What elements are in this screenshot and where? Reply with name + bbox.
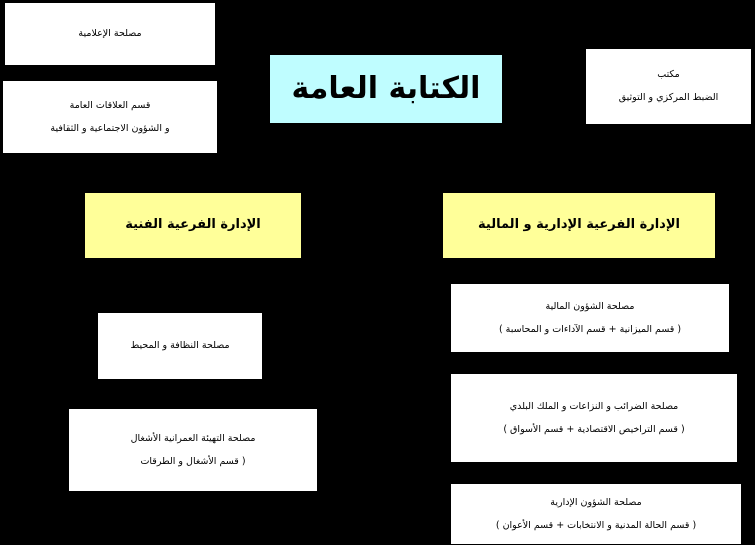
service-administrative-affairs-name: مصلحة الشؤون الإدارية: [550, 496, 641, 510]
node-central-registry-office[interactable]: مكتب الضبط المركزي و التوثيق: [585, 48, 752, 125]
node-service-administrative-affairs[interactable]: مصلحة الشؤون الإدارية ( قسم الحالة المدن…: [450, 483, 742, 545]
node-general-secretariat[interactable]: الكتابة العامة: [270, 55, 502, 123]
central-registry-office-label-line1: مكتب: [657, 68, 680, 82]
node-media-service[interactable]: مصلحة الإعلامية: [4, 2, 216, 66]
node-public-relations[interactable]: قسم العلاقات العامة و الشؤون الاجتماعية …: [2, 80, 218, 154]
subdirectorate-technical-label: الإدارة الفرعية الفنية: [125, 216, 261, 235]
node-service-cleanliness-environment[interactable]: مصلحة النظافة و المحيط: [97, 312, 263, 380]
service-urban-planning-works-name: مصلحة التهيئة العمرانية الأشغال: [131, 432, 256, 446]
central-registry-office-label-line2: الضبط المركزي و التوثيق: [619, 91, 719, 105]
service-financial-affairs-detail: ( قسم الميزانية + قسم الآداءات و المحاسب…: [499, 323, 681, 337]
node-service-taxes-disputes-municipal-property[interactable]: مصلحة الضرائب و النزاعات و الملك البلدي …: [450, 373, 738, 463]
node-subdirectorate-technical[interactable]: الإدارة الفرعية الفنية: [85, 193, 301, 258]
service-administrative-affairs-detail: ( قسم الحالة المدنية و الانتخابات + قسم …: [496, 519, 696, 533]
service-taxes-disputes-municipal-property-name: مصلحة الضرائب و النزاعات و الملك البلدي: [510, 400, 679, 414]
node-service-urban-planning-works[interactable]: مصلحة التهيئة العمرانية الأشغال ( قسم ال…: [68, 408, 318, 492]
organization-chart: الكتابة العامة مصلحة الإعلامية قسم العلا…: [0, 0, 755, 545]
node-subdirectorate-administrative-financial[interactable]: الإدارة الفرعية الإدارية و المالية: [443, 193, 715, 258]
service-cleanliness-environment-name: مصلحة النظافة و المحيط: [130, 339, 229, 353]
service-urban-planning-works-detail: ( قسم الأشغال و الطرقات: [140, 455, 245, 469]
media-service-label: مصلحة الإعلامية: [78, 27, 141, 41]
subdirectorate-administrative-financial-label: الإدارة الفرعية الإدارية و المالية: [478, 216, 680, 235]
general-secretariat-label: الكتابة العامة: [292, 67, 481, 111]
node-service-financial-affairs[interactable]: مصلحة الشؤون المالية ( قسم الميزانية + ق…: [450, 283, 730, 353]
public-relations-label-line2: و الشؤون الاجتماعية و الثقافية: [50, 122, 169, 136]
service-taxes-disputes-municipal-property-detail: ( قسم التراخيص الاقتصادية + قسم الأسواق …: [503, 423, 684, 437]
public-relations-label-line1: قسم العلاقات العامة: [70, 99, 151, 113]
service-financial-affairs-name: مصلحة الشؤون المالية: [546, 300, 635, 314]
